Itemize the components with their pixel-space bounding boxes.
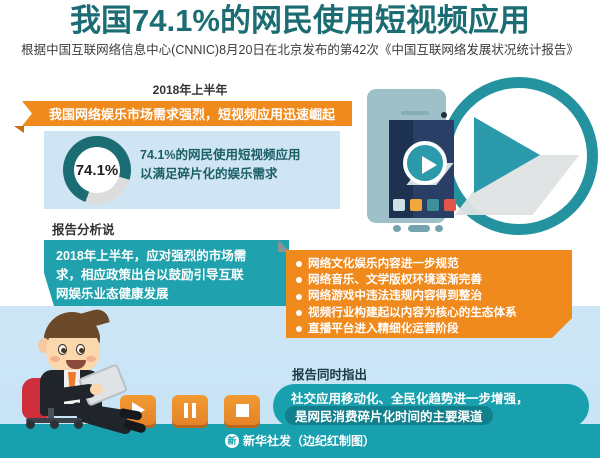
bullet-dot-icon [296, 326, 302, 332]
bullet-dot-icon [296, 261, 302, 267]
bullet-text: 视频行业构建起以内容为核心的生态体系 [308, 305, 517, 321]
also-line-2: 是网民消费碎片化时间的主要渠道 [295, 406, 483, 425]
phone-app-tile-2 [410, 199, 422, 211]
analysis-quote-text: 2018年上半年，应对强烈的市场需 求，相应政策出台以鼓励引导互联 网娱乐业态健… [56, 247, 282, 304]
smartphone-icon [367, 89, 446, 223]
list-item: 网络游戏中违法违规内容得到整治 [296, 288, 572, 304]
stop-icon [236, 404, 249, 417]
infographic-canvas: 我国74.1%的网民使用短视频应用 根据中国互联网络信息中心(CNNIC)8月2… [0, 0, 600, 458]
footer-credit: 新 新华社发（边纪红制图） [0, 432, 600, 449]
phone-app-tile-4 [444, 199, 456, 211]
analysis-label: 报告分析说 [52, 219, 115, 238]
analysis-line-2: 求，相应政策出台以鼓励引导互联 [56, 266, 282, 285]
phone-app-tile-3 [427, 199, 439, 211]
bullet-text: 网络游戏中违法违规内容得到整治 [308, 288, 482, 304]
bullet-list: 网络文化娱乐内容进一步规范 网络音乐、文学版权环境逐渐完善 网络游戏中违法违规内… [286, 250, 572, 337]
also-label: 报告同时指出 [292, 364, 367, 383]
eye-right [76, 344, 85, 355]
page-subtitle: 根据中国互联网络信息中心(CNNIC)8月20日在北京发布的第42次《中国互联网… [0, 42, 600, 58]
chair-wheel-2 [50, 420, 59, 429]
bullet-dot-icon [296, 294, 302, 300]
chair-wheel-1 [26, 420, 35, 429]
list-item: 网络文化娱乐内容进一步规范 [296, 256, 572, 272]
period-caption: 2018年上半年 [30, 81, 350, 98]
illustration-group [352, 72, 600, 268]
hand [90, 384, 103, 395]
list-item: 网络音乐、文学版权环境逐渐完善 [296, 272, 572, 288]
bullet-list-panel: 网络文化娱乐内容进一步规范 网络音乐、文学版权环境逐渐完善 网络游戏中违法违规内… [286, 250, 572, 338]
phone-button-right [435, 225, 443, 232]
analysis-line-1: 2018年上半年，应对强烈的市场需 [56, 247, 282, 266]
cheek-right [86, 356, 96, 362]
bullet-text: 网络文化娱乐内容进一步规范 [308, 256, 459, 272]
also-line-2-highlight: 是网民消费碎片化时间的主要渠道 [285, 406, 493, 425]
phone-app-tile-1 [393, 199, 405, 211]
bullet-text: 网络音乐、文学版权环境逐渐完善 [308, 272, 482, 288]
also-pill-panel: 社交应用移动化、全民化趋势进一步增强， 是网民消费碎片化时间的主要渠道 [273, 384, 589, 428]
orange-ribbon-text: 我国网络娱乐市场需求强烈，短视频应用迅速崛起 [39, 104, 335, 123]
phone-play-button-icon [403, 141, 447, 185]
bullet-dot-icon [296, 277, 302, 283]
list-item: 直播平台进入精细化运营阶段 [296, 321, 572, 337]
analysis-line-3: 网娱乐业态健康发展 [56, 285, 282, 304]
hair-fringe [44, 322, 100, 338]
page-title: 我国74.1%的网民使用短视频应用 [0, 2, 600, 40]
bullet-text: 直播平台进入精细化运营阶段 [308, 321, 459, 337]
stat-description: 74.1%的网民使用短视频应用 以满足碎片化的娱乐需求 [140, 146, 340, 184]
xinhua-logo-icon: 新 [225, 434, 239, 448]
also-line-1: 社交应用移动化、全民化趋势进一步增强， [291, 388, 529, 407]
footer-text: 新华社发（边纪红制图） [243, 432, 375, 449]
analysis-quote-box: 2018年上半年，应对强烈的市场需 求，相应政策出台以鼓励引导互联 网娱乐业态健… [44, 240, 289, 306]
play-triangle-icon [474, 117, 540, 193]
stat-description-line2: 以满足碎片化的娱乐需求 [140, 165, 340, 184]
stop-button[interactable] [224, 395, 260, 425]
phone-home-button [408, 225, 430, 232]
orange-ribbon-banner: 我国网络娱乐市场需求强烈，短视频应用迅速崛起 [22, 101, 352, 126]
pause-icon [184, 403, 196, 418]
cheek-left [50, 356, 60, 362]
businessman-illustration [20, 312, 140, 432]
donut-value-label: 74.1% [63, 136, 131, 204]
chair-wheel-3 [74, 420, 83, 429]
list-item: 视频行业构建起以内容为核心的生态体系 [296, 305, 572, 321]
phone-camera [441, 112, 447, 118]
bullet-dot-icon [296, 310, 302, 316]
eye-left [58, 344, 67, 355]
stat-description-line1: 74.1%的网民使用短视频应用 [140, 146, 340, 165]
pause-button[interactable] [172, 395, 208, 425]
phone-button-left [393, 225, 401, 232]
phone-speaker [401, 111, 429, 115]
